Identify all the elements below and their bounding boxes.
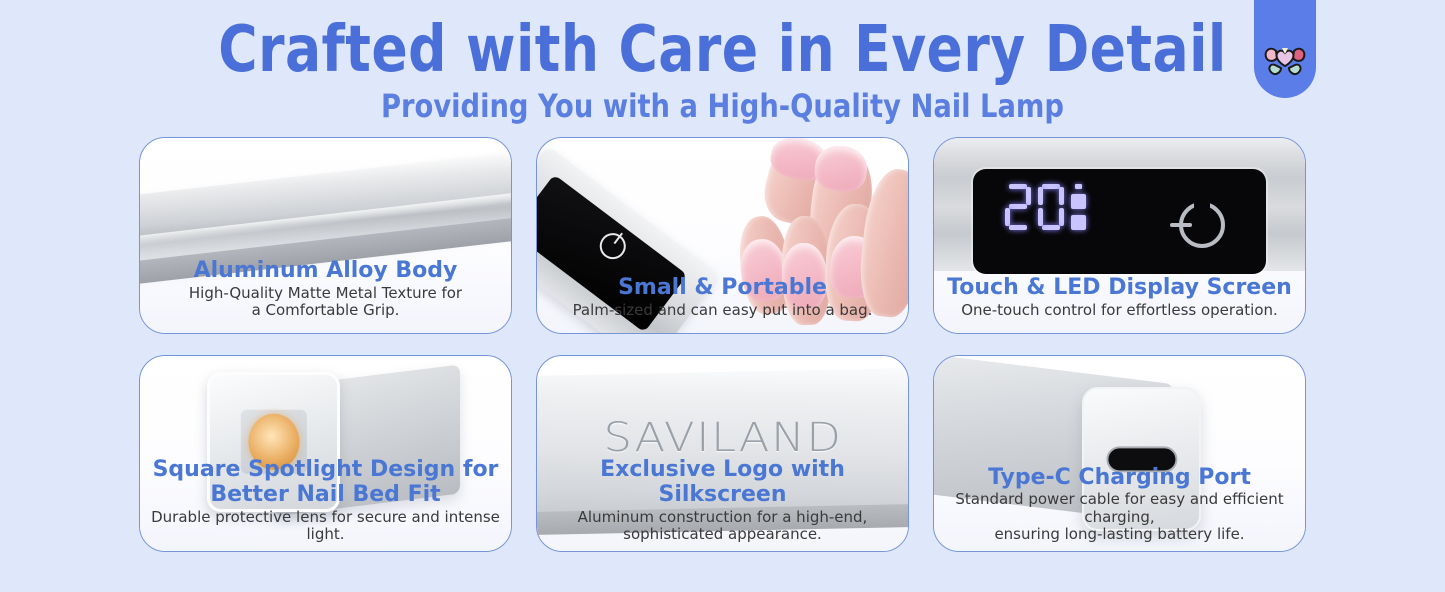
card-title: Touch & LED Display Screen bbox=[942, 276, 1297, 301]
feature-card-square-spotlight-design[interactable]: Square Spotlight Design for Better Nail … bbox=[139, 355, 512, 552]
feature-card-aluminum-alloy-body[interactable]: Aluminum Alloy Body High-Quality Matte M… bbox=[139, 137, 512, 334]
power-button-icon bbox=[1179, 202, 1225, 248]
card-caption: Aluminum Alloy Body High-Quality Matte M… bbox=[140, 259, 511, 333]
card-title: Type-C Charging Port bbox=[942, 466, 1297, 491]
card-description: Aluminum construction for a high-end, so… bbox=[545, 509, 900, 544]
card-description: One-touch control for effortless operati… bbox=[942, 302, 1297, 319]
card-caption: Square Spotlight Design for Better Nail … bbox=[140, 458, 511, 551]
card-title: Aluminum Alloy Body bbox=[148, 259, 503, 284]
feature-card-type-c-charging-port[interactable]: Type-C Charging Port Standard power cabl… bbox=[933, 355, 1306, 552]
feature-card-exclusive-logo-silkscreen[interactable]: SAVILAND Exclusive Logo with Silkscreen … bbox=[536, 355, 909, 552]
card-description: Palm-sized and can easy put into a bag. bbox=[545, 302, 900, 319]
flower-logo-icon bbox=[1263, 40, 1307, 80]
brand-wordmark: SAVILAND bbox=[603, 415, 842, 461]
led-digit-2 bbox=[1005, 184, 1031, 230]
card-caption: Small & Portable Palm-sized and can easy… bbox=[537, 276, 908, 333]
card-title: Exclusive Logo with Silkscreen bbox=[545, 458, 900, 507]
card-caption: Type-C Charging Port Standard power cabl… bbox=[934, 466, 1305, 551]
led-digits bbox=[1005, 184, 1086, 230]
card-title: Square Spotlight Design for Better Nail … bbox=[148, 458, 503, 507]
card-caption: Touch & LED Display Screen One-touch con… bbox=[934, 276, 1305, 333]
card-description: Standard power cable for easy and effici… bbox=[942, 491, 1297, 543]
page-subtitle: Providing You with a High-Quality Nail L… bbox=[36, 86, 1409, 126]
led-digit-0 bbox=[1038, 184, 1064, 230]
brand-badge bbox=[1254, 0, 1316, 98]
card-description: Durable protective lens for secure and i… bbox=[148, 509, 503, 544]
page-title: Crafted with Care in Every Detail bbox=[51, 18, 1395, 82]
card-caption: Exclusive Logo with Silkscreen Aluminum … bbox=[537, 458, 908, 551]
card-title: Small & Portable bbox=[545, 276, 900, 301]
led-screen bbox=[973, 169, 1266, 274]
card-description: High-Quality Matte Metal Texture for a C… bbox=[148, 285, 503, 320]
feature-card-small-and-portable[interactable]: Small & Portable Palm-sized and can easy… bbox=[536, 137, 909, 334]
page-header: Crafted with Care in Every Detail Provid… bbox=[0, 0, 1445, 126]
battery-icon bbox=[1071, 184, 1086, 230]
feature-card-grid: Aluminum Alloy Body High-Quality Matte M… bbox=[139, 137, 1307, 552]
feature-card-touch-led-display-screen[interactable]: Touch & LED Display Screen One-touch con… bbox=[933, 137, 1306, 334]
